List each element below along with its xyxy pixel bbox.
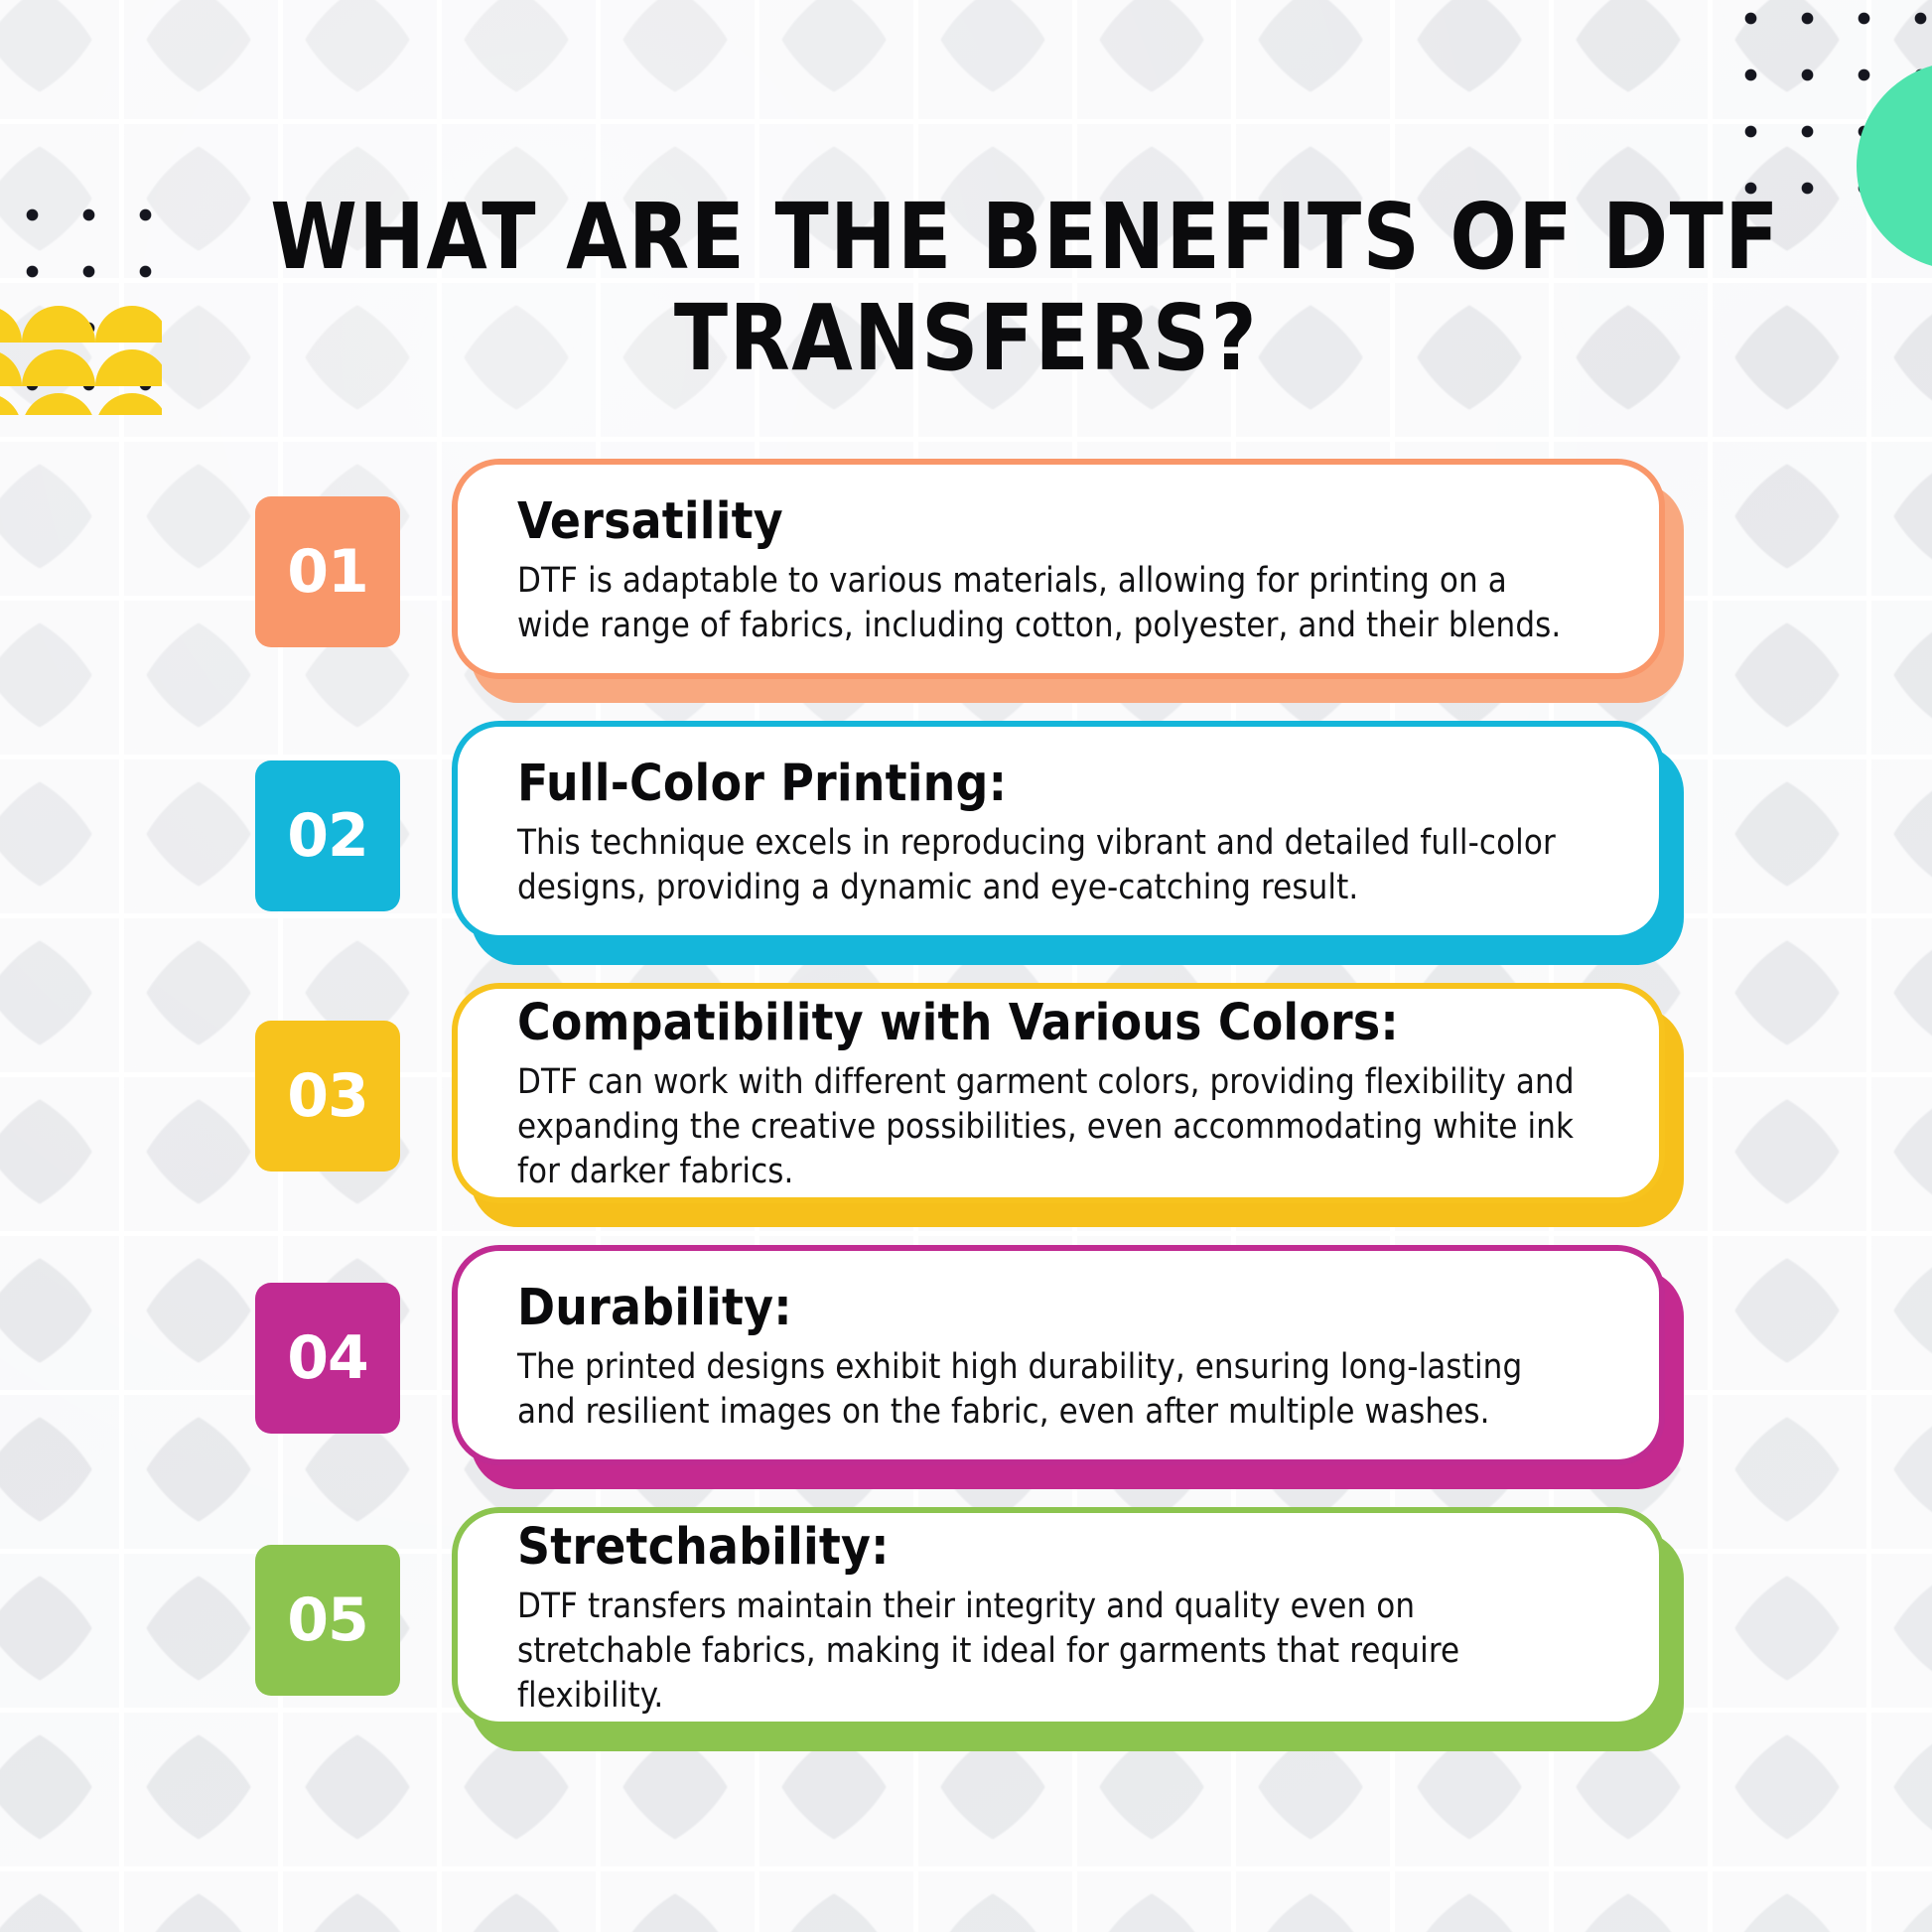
- benefit-card-description: DTF can work with different garment colo…: [517, 1060, 1580, 1194]
- page-title-line-2: TRANSFERS?: [270, 292, 1662, 385]
- benefit-card-description: The printed designs exhibit high durabil…: [517, 1345, 1580, 1435]
- benefit-number-badge: 02: [255, 760, 400, 911]
- dome-shape-icon: [95, 393, 162, 415]
- infographic-poster: WHAT ARE THE BENEFITS OF DTF TRANSFERS? …: [0, 0, 1932, 1932]
- benefit-card[interactable]: Stretchability:DTF transfers maintain th…: [452, 1507, 1665, 1727]
- dome-shape-icon: [22, 306, 95, 343]
- benefit-card[interactable]: Compatibility with Various Colors:DTF ca…: [452, 983, 1665, 1203]
- benefit-card[interactable]: VersatilityDTF is adaptable to various m…: [452, 459, 1665, 679]
- benefit-card-description: DTF transfers maintain their integrity a…: [517, 1585, 1580, 1719]
- benefit-number-badge: 04: [255, 1283, 400, 1434]
- benefit-card-title: Versatility: [517, 494, 1607, 549]
- benefit-number-label: 03: [287, 1066, 368, 1126]
- dome-shape-icon: [95, 349, 162, 386]
- dome-shape-icon: [0, 349, 22, 386]
- benefit-card[interactable]: Full-Color Printing:This technique excel…: [452, 721, 1665, 941]
- benefit-number-label: 02: [287, 806, 368, 866]
- benefit-card-row: Stretchability:DTF transfers maintain th…: [0, 1507, 1932, 1769]
- dome-shape-icon: [0, 306, 22, 343]
- benefit-card-row: VersatilityDTF is adaptable to various m…: [0, 459, 1932, 721]
- benefit-card-title: Stretchability:: [517, 1520, 1607, 1575]
- benefit-card-description: This technique excels in reproducing vib…: [517, 821, 1580, 910]
- page-title: WHAT ARE THE BENEFITS OF DTF TRANSFERS?: [270, 191, 1662, 385]
- benefit-number-badge: 05: [255, 1545, 400, 1696]
- dot-pattern-top-left-icon: [4, 187, 185, 417]
- benefit-card[interactable]: Durability:The printed designs exhibit h…: [452, 1245, 1665, 1465]
- benefit-card-title: Compatibility with Various Colors:: [517, 996, 1607, 1050]
- dome-shape-icon: [95, 306, 162, 343]
- benefit-number-label: 04: [287, 1328, 368, 1388]
- dome-shape-icon: [0, 393, 22, 415]
- benefit-card-title: Durability:: [517, 1281, 1607, 1335]
- benefit-number-badge: 01: [255, 496, 400, 647]
- dome-shape-icon: [22, 393, 95, 415]
- benefit-card-title: Full-Color Printing:: [517, 757, 1607, 811]
- mint-circle-decoration-icon: [1857, 62, 1932, 270]
- yellow-dome-pattern-icon: [0, 306, 162, 415]
- benefit-card-description: DTF is adaptable to various materials, a…: [517, 559, 1580, 648]
- benefit-number-badge: 03: [255, 1021, 400, 1172]
- benefit-card-row: Durability:The printed designs exhibit h…: [0, 1245, 1932, 1507]
- benefit-number-label: 05: [287, 1590, 368, 1650]
- benefit-card-row: Compatibility with Various Colors:DTF ca…: [0, 983, 1932, 1245]
- benefit-card-row: Full-Color Printing:This technique excel…: [0, 721, 1932, 983]
- page-title-line-1: WHAT ARE THE BENEFITS OF DTF: [270, 191, 1662, 284]
- benefits-card-list: VersatilityDTF is adaptable to various m…: [0, 459, 1932, 1769]
- dome-shape-icon: [22, 349, 95, 386]
- benefit-number-label: 01: [287, 542, 368, 602]
